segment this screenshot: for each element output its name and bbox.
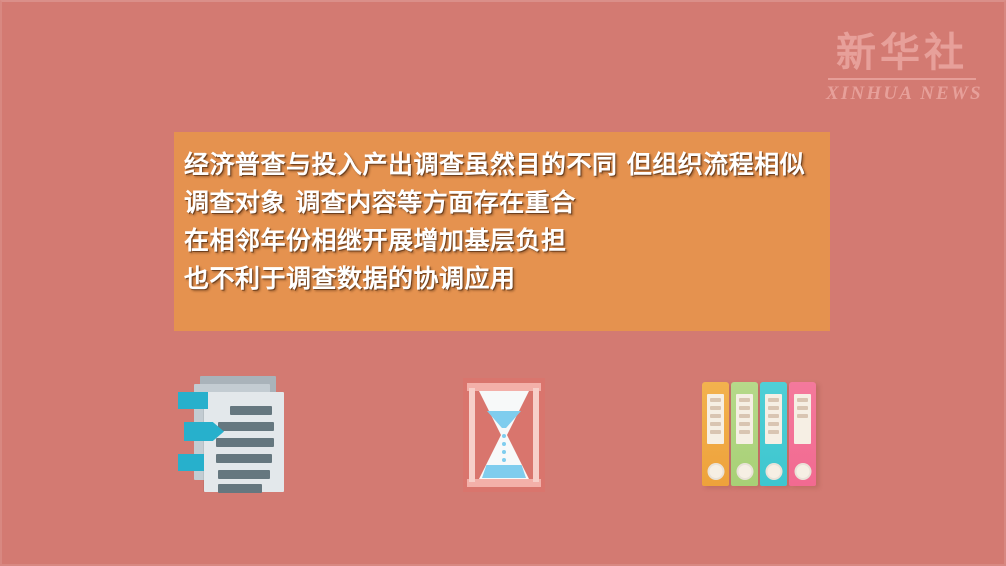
xinhua-news-watermark: 新华社 XINHUA NEWS	[826, 32, 978, 105]
hourglass-sand-drop	[502, 434, 506, 438]
documents-stack-icon	[178, 376, 294, 492]
logo-divider	[828, 78, 976, 80]
binder-ring	[736, 463, 753, 480]
document-tab-bottom	[178, 454, 204, 471]
hourglass-top-bar	[467, 383, 541, 391]
binder-pink	[789, 382, 816, 486]
binder-ring	[765, 463, 782, 480]
document-text-line	[230, 406, 272, 415]
document-text-line	[216, 454, 272, 463]
document-text-line	[218, 422, 274, 431]
hourglass-lower-sand	[482, 465, 526, 478]
hourglass-sand-drop	[502, 458, 506, 462]
hourglass-sand-drop	[502, 450, 506, 454]
hourglass-bottom-bar	[467, 479, 541, 487]
hourglass-icon	[463, 378, 545, 492]
caption-line-2: 调查对象 调查内容等方面存在重合	[184, 184, 824, 222]
binder-ring	[794, 463, 811, 480]
binder-teal	[760, 382, 787, 486]
logo-chinese-text: 新华社	[826, 32, 978, 74]
document-text-line	[216, 438, 274, 447]
caption-banner: 经济普查与投入产出调查虽然目的不同 但组织流程相似 调查对象 调查内容等方面存在…	[174, 132, 830, 331]
binder-green	[731, 382, 758, 486]
hourglass-sand-drop	[502, 442, 506, 446]
binder-label	[736, 394, 753, 444]
document-sheet-front	[204, 392, 284, 492]
binder-label	[707, 394, 724, 444]
hourglass-right-post	[533, 388, 539, 482]
binder-label	[794, 394, 811, 444]
caption-line-1: 经济普查与投入产出调查虽然目的不同 但组织流程相似	[184, 146, 824, 184]
hourglass-left-post	[469, 388, 475, 482]
binder-label	[765, 394, 782, 444]
caption-line-4: 也不利于调查数据的协调应用	[184, 260, 824, 298]
binder-orange	[702, 382, 729, 486]
logo-english-text: XINHUA NEWS	[826, 83, 978, 105]
caption-text-block: 经济普查与投入产出调查虽然目的不同 但组织流程相似 调查对象 调查内容等方面存在…	[184, 146, 824, 298]
binders-icon	[702, 378, 818, 490]
illustration-icon-row	[0, 360, 1006, 500]
binder-ring	[707, 463, 724, 480]
video-frame: 新华社 XINHUA NEWS 经济普查与投入产出调查虽然目的不同 但组织流程相…	[0, 0, 1006, 566]
document-tab-top	[178, 392, 208, 409]
document-text-line	[218, 484, 262, 493]
hourglass-upper-sand	[487, 411, 521, 428]
caption-line-3: 在相邻年份相继开展增加基层负担	[184, 222, 824, 260]
document-text-line	[218, 470, 270, 479]
